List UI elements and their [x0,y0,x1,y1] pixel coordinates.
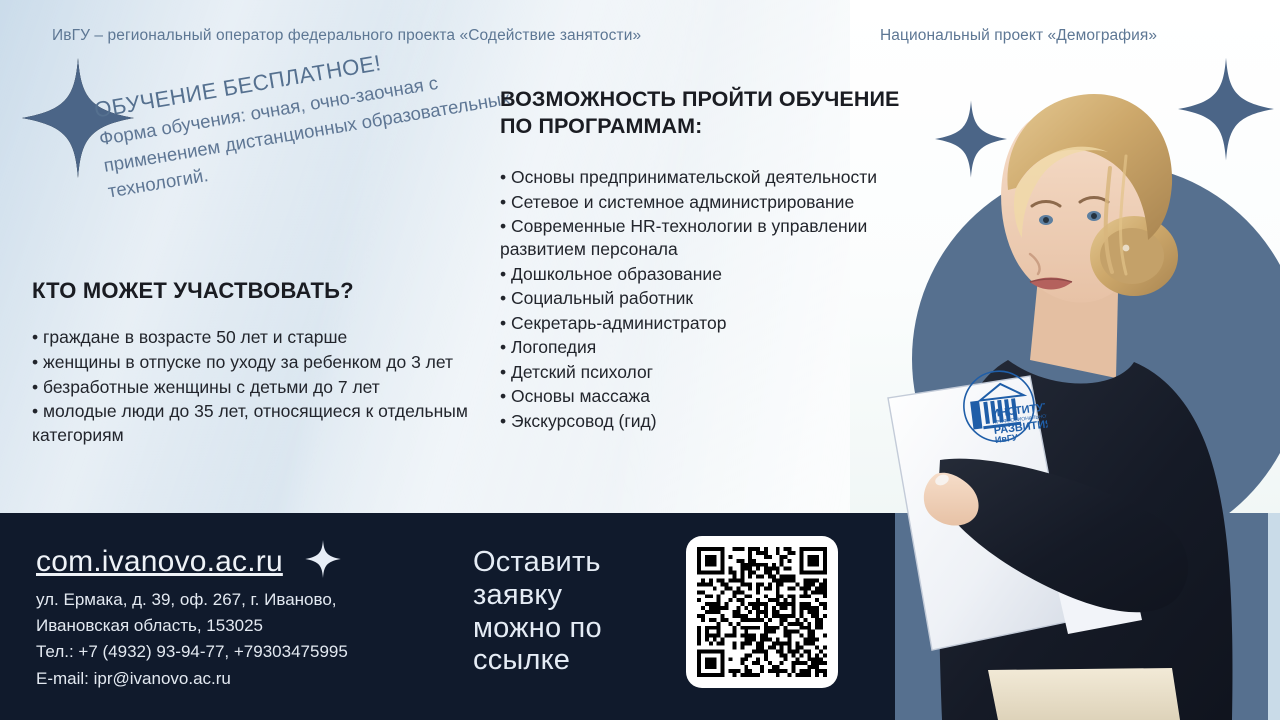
site-row: com.ivanovo.ac.ru [36,540,341,583]
contact-block: ул. Ермака, д. 39, оф. 267, г. Иваново, … [36,587,348,692]
programs-block: ВОЗМОЖНОСТЬ ПРОЙТИ ОБУЧЕНИЕ ПО ПРОГРАММА… [500,86,900,434]
list-item: молодые люди до 35 лет, относящиеся к от… [32,400,502,448]
list-item: Детский психолог [500,361,900,384]
list-item: безработные женщины с детьми до 7 лет [32,376,502,400]
who-can-participate-list: граждане в возрасте 50 лет и старше женщ… [32,326,502,448]
cta-line-4: ссылке [473,644,602,677]
address-line-1: ул. Ермака, д. 39, оф. 267, г. Иваново, [36,587,348,613]
list-item: Логопедия [500,336,900,359]
list-item: женщины в отпуске по уходу за ребенком д… [32,351,502,375]
site-url-link[interactable]: com.ivanovo.ac.ru [36,545,283,579]
programs-list: Основы предпринимательской деятельности … [500,166,900,433]
phone-line[interactable]: Тел.: +7 (4932) 93-94-77, +79303475995 [36,639,348,665]
poster-root: ИвГУ – региональный оператор федеральног… [0,0,1280,720]
logo-line-4: ИвГУ [994,432,1018,445]
who-can-participate-block: КТО МОЖЕТ УЧАСТВОВАТЬ? граждане в возрас… [32,278,502,449]
who-can-participate-title: КТО МОЖЕТ УЧАСТВОВАТЬ? [32,278,502,304]
sparkle-icon-footer [305,540,341,583]
email-line[interactable]: E-mail: ipr@ivanovo.ac.ru [36,666,348,692]
institute-logo: ИНСТИТУТ ПРОФЕССИОНАЛЬНОГО РАЗВИТИЯ ИвГУ [953,363,1050,451]
address-line-2: Ивановская область, 153025 [36,613,348,639]
list-item: Сетевое и системное администрирование [500,191,900,214]
header-bar: ИвГУ – региональный оператор федеральног… [0,0,1280,58]
list-item: Основы предпринимательской деятельности [500,166,900,189]
header-right-text: Национальный проект «Демография» [880,27,1157,45]
cta-line-3: можно по [473,612,602,645]
programs-title: ВОЗМОЖНОСТЬ ПРОЙТИ ОБУЧЕНИЕ ПО ПРОГРАММА… [500,86,900,140]
model-photo [880,60,1280,720]
list-item: Экскурсовод (гид) [500,410,900,433]
cta-line-2: заявку [473,579,602,612]
list-item: Секретарь-администратор [500,312,900,335]
list-item: Современные HR-технологии в управлении р… [500,215,900,262]
qr-code[interactable] [686,536,838,688]
list-item: Социальный работник [500,287,900,310]
header-left-text: ИвГУ – региональный оператор федеральног… [52,27,641,45]
qr-code-image[interactable] [697,547,827,677]
list-item: Дошкольное образование [500,263,900,286]
list-item: граждане в возрасте 50 лет и старше [32,326,502,350]
cta-text-block: Оставить заявку можно по ссылке [473,546,602,677]
list-item: Основы массажа [500,385,900,408]
cta-line-1: Оставить [473,546,602,579]
